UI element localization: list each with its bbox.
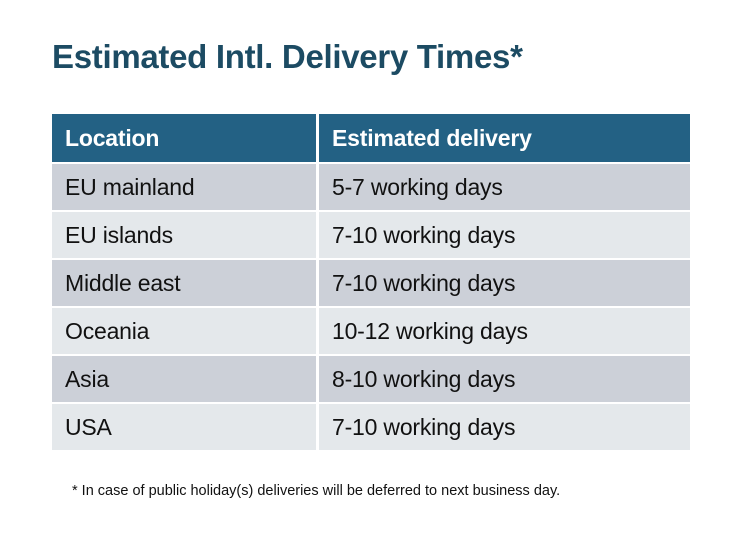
cell-location: EU mainland <box>52 164 316 210</box>
page-title: Estimated Intl. Delivery Times* <box>52 36 523 78</box>
cell-estimated-delivery: 7-10 working days <box>319 404 690 450</box>
estimated-delivery-times-table: Location Estimated delivery EU mainland … <box>49 112 693 452</box>
cell-location: Oceania <box>52 308 316 354</box>
column-header-location: Location <box>52 114 316 162</box>
table-row: EU mainland 5-7 working days <box>52 164 690 210</box>
table-header-row: Location Estimated delivery <box>52 114 690 162</box>
table-row: USA 7-10 working days <box>52 404 690 450</box>
cell-estimated-delivery: 8-10 working days <box>319 356 690 402</box>
column-header-estimated-delivery: Estimated delivery <box>319 114 690 162</box>
table-body: EU mainland 5-7 working days EU islands … <box>52 164 690 450</box>
delivery-times-panel: Estimated Intl. Delivery Times* Location… <box>0 0 745 536</box>
cell-estimated-delivery: 10-12 working days <box>319 308 690 354</box>
table-row: Middle east 7-10 working days <box>52 260 690 306</box>
cell-estimated-delivery: 7-10 working days <box>319 212 690 258</box>
footnote: * In case of public holiday(s) deliverie… <box>72 481 560 501</box>
table-row: EU islands 7-10 working days <box>52 212 690 258</box>
table-header: Location Estimated delivery <box>52 114 690 162</box>
cell-location: Asia <box>52 356 316 402</box>
cell-location: EU islands <box>52 212 316 258</box>
cell-estimated-delivery: 7-10 working days <box>319 260 690 306</box>
table-row: Asia 8-10 working days <box>52 356 690 402</box>
cell-location: USA <box>52 404 316 450</box>
cell-location: Middle east <box>52 260 316 306</box>
cell-estimated-delivery: 5-7 working days <box>319 164 690 210</box>
table-row: Oceania 10-12 working days <box>52 308 690 354</box>
